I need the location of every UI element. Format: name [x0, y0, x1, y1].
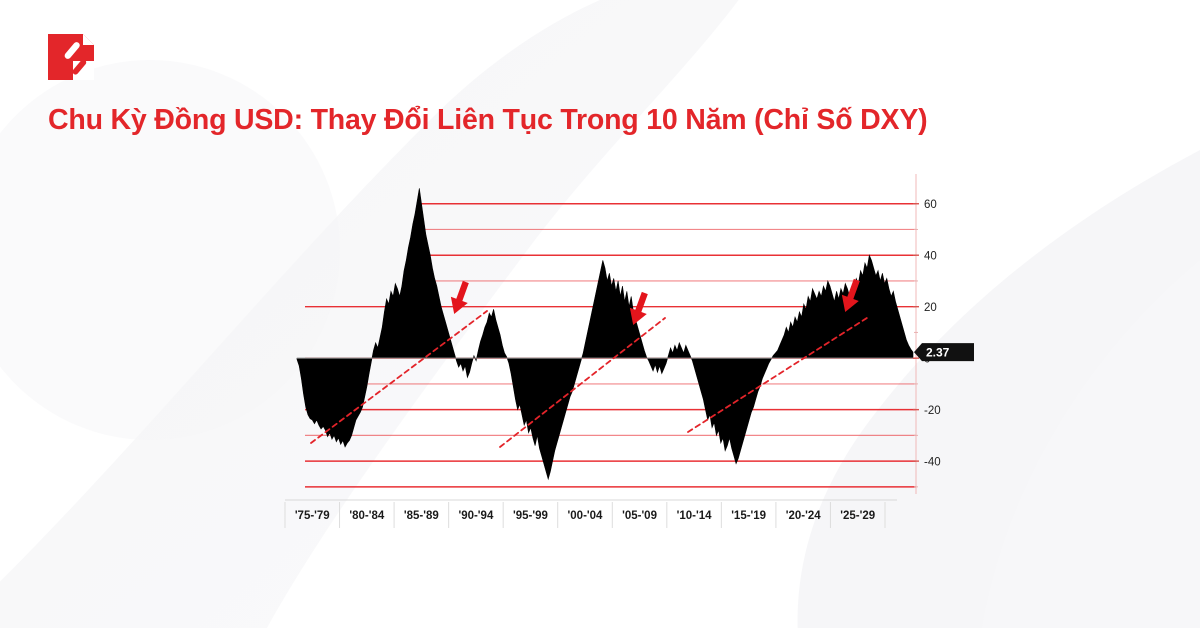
x-tick-label-6: '05-'09	[622, 510, 657, 522]
x-tick-label-8: '15-'19	[731, 510, 766, 522]
x-tick-label-3: '90-'94	[458, 510, 493, 522]
arrow-1-icon	[446, 279, 475, 317]
y-tick-label-40: 40	[924, 250, 937, 262]
x-tick-label-9: '20-'24	[786, 510, 821, 522]
y-tick-label-60: 60	[924, 199, 937, 211]
y-tick-label--20: -20	[924, 405, 941, 417]
x-tick-label-10: '25-'29	[840, 510, 875, 522]
y-axis: 6040200-20-40	[913, 174, 941, 494]
x-tick-label-1: '80-'84	[349, 510, 384, 522]
page-title: Chu Kỳ Đồng USD: Thay Đổi Liên Tục Trong…	[48, 104, 927, 137]
dxy-cycle-chart: 6040200-20-40 2.37 '75-'79'80-'84'85-'89…	[0, 0, 1200, 628]
price-badge-text: 2.37	[926, 346, 950, 360]
brand-header	[48, 34, 94, 80]
document-pencil-icon	[48, 34, 94, 80]
x-tick-label-0: '75-'79	[295, 510, 330, 522]
price-badge: 2.37	[914, 343, 974, 361]
x-axis: '75-'79'80-'84'85-'89'90-'94'95-'99'00-'…	[285, 500, 897, 528]
x-tick-label-2: '85-'89	[404, 510, 439, 522]
x-tick-label-5: '00-'04	[568, 510, 603, 522]
y-tick-label--40: -40	[924, 456, 941, 468]
x-tick-label-7: '10-'14	[677, 510, 712, 522]
chart-svg: 6040200-20-40 2.37 '75-'79'80-'84'85-'89…	[0, 0, 1200, 628]
x-tick-label-4: '95-'99	[513, 510, 548, 522]
y-tick-label-20: 20	[924, 302, 937, 314]
last-price-badge: 2.37	[914, 343, 974, 361]
